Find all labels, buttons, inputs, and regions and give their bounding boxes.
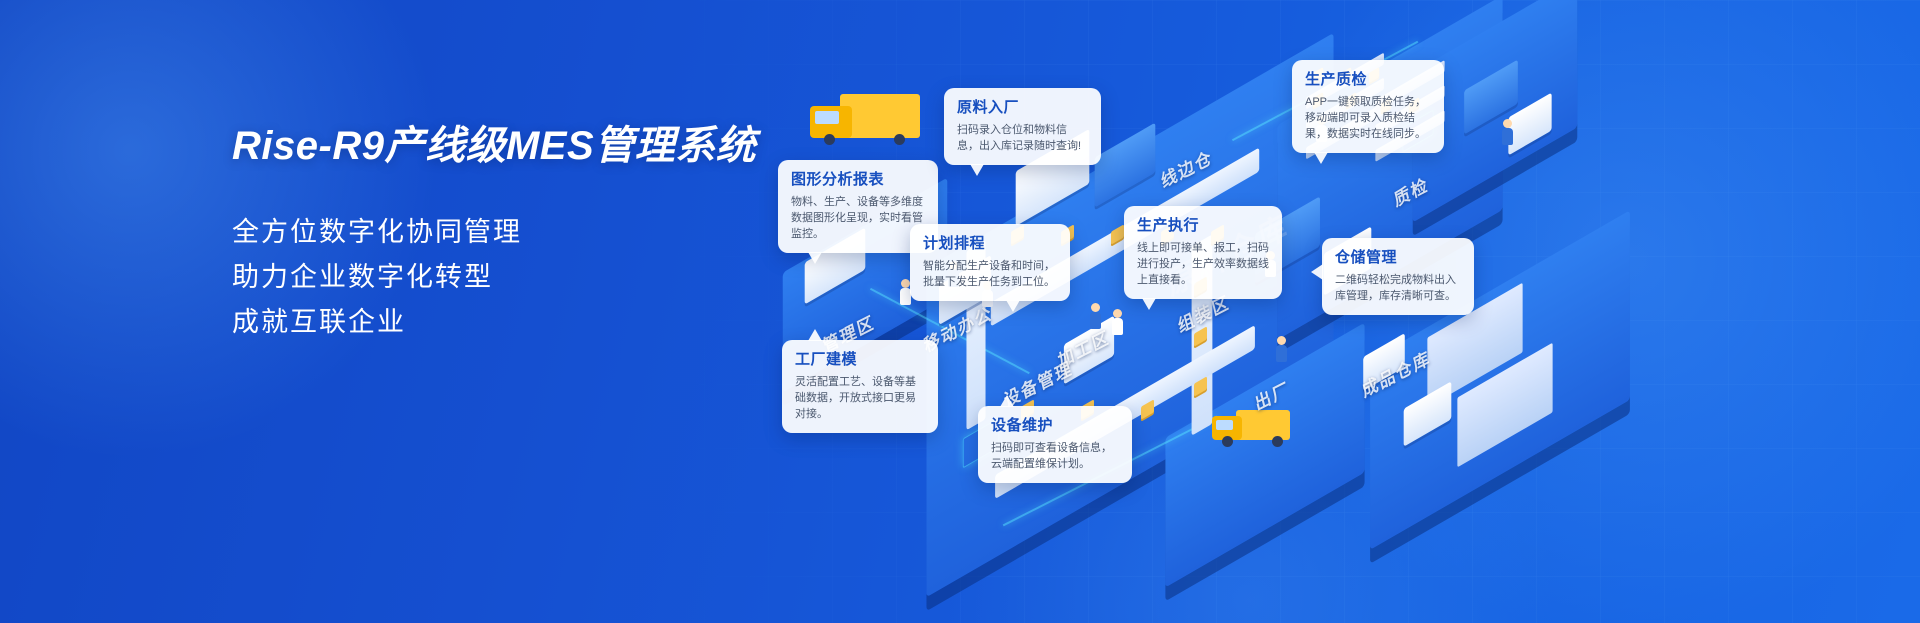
callout-title: 图形分析报表 [791, 170, 925, 190]
callout-pointer [1311, 264, 1323, 280]
truck-wheel [1222, 436, 1233, 447]
worker [1112, 318, 1123, 335]
callout-description: 扫码即可查看设备信息，云端配置维保计划。 [991, 440, 1119, 472]
truck-body [1236, 410, 1290, 440]
callout-pointer [1006, 300, 1020, 312]
callout-description: 二维码轻松完成物料出入库管理，库存清晰可查。 [1335, 272, 1461, 304]
callout-card-equipment-maintenance[interactable]: 设备维护 扫码即可查看设备信息，云端配置维保计划。 [978, 406, 1132, 483]
callout-title: 生产执行 [1137, 216, 1269, 236]
callout-card-production-quality-inspection[interactable]: 生产质检 APP一键领取质检任务，移动端即可录入质检结果，数据实时在线同步。 [1292, 60, 1444, 153]
callout-pointer [1142, 298, 1156, 310]
page-title-latin: Rise-R9 [232, 124, 384, 168]
callout-title: 仓储管理 [1335, 248, 1461, 268]
callout-description: 智能分配生产设备和时间，批量下发生产任务到工位。 [923, 258, 1057, 290]
callout-title: 计划排程 [923, 234, 1057, 254]
truck-body [840, 94, 920, 138]
callout-card-raw-material-inbound[interactable]: 原料入厂 扫码录入仓位和物料信息，出入库记录随时查询! [944, 88, 1101, 165]
callout-description: 扫码录入仓位和物料信息，出入库记录随时查询! [957, 122, 1088, 154]
truck-window [815, 111, 839, 124]
callout-card-warehouse-management[interactable]: 仓储管理 二维码轻松完成物料出入库管理，库存清晰可查。 [1322, 238, 1474, 315]
callout-pointer [1314, 152, 1328, 164]
callout-title: 工厂建模 [795, 350, 925, 370]
outbound-truck [1212, 408, 1298, 460]
callout-pointer [808, 252, 822, 264]
callout-card-plan-scheduling[interactable]: 计划排程 智能分配生产设备和时间，批量下发生产任务到工位。 [910, 224, 1070, 301]
callout-description: 灵活配置工艺、设备等基础数据，开放式接口更易对接。 [795, 374, 925, 422]
worker-head [1503, 119, 1512, 128]
worker [1502, 128, 1513, 145]
page-title-cn: 产线级MES管理系统 [384, 124, 756, 168]
truck-wheel [1272, 436, 1283, 447]
hero-copy: Rise-R9产线级MES管理系统 全方位数字化协同管理 助力企业数字化转型 成… [232, 122, 756, 345]
worker-head [1091, 303, 1100, 312]
callout-description: APP一键领取质检任务，移动端即可录入质检结果，数据实时在线同步。 [1305, 94, 1431, 142]
mes-marketing-banner: Rise-R9产线级MES管理系统 全方位数字化协同管理 助力企业数字化转型 成… [0, 0, 1920, 623]
callout-pointer [1000, 395, 1014, 407]
callout-title: 原料入厂 [957, 98, 1088, 118]
callout-title: 设备维护 [991, 416, 1119, 436]
hero-subtitle-line-1: 全方位数字化协同管理 [232, 210, 756, 255]
worker [1276, 345, 1287, 362]
page-title: Rise-R9产线级MES管理系统 [232, 122, 756, 170]
hero-subtitle: 全方位数字化协同管理 助力企业数字化转型 成就互联企业 [232, 210, 756, 345]
worker-head [901, 279, 910, 288]
truck-wheel [824, 134, 835, 145]
hero-subtitle-line-2: 助力企业数字化转型 [232, 255, 756, 300]
callout-card-production-execution[interactable]: 生产执行 线上即可接单、报工，扫码进行投产，生产效率数据线上直接看。 [1124, 206, 1282, 299]
callout-pointer [808, 329, 822, 341]
worker-head [1277, 336, 1286, 345]
worker-head [1113, 309, 1122, 318]
inbound-truck [810, 92, 930, 162]
truck-window [1216, 420, 1233, 430]
callout-pointer [970, 164, 984, 176]
hero-subtitle-line-3: 成就互联企业 [232, 300, 756, 345]
truck-wheel [894, 134, 905, 145]
callout-description: 线上即可接单、报工，扫码进行投产，生产效率数据线上直接看。 [1137, 240, 1269, 288]
callout-card-factory-modeling[interactable]: 工厂建模 灵活配置工艺、设备等基础数据，开放式接口更易对接。 [782, 340, 938, 433]
callout-title: 生产质检 [1305, 70, 1431, 90]
callout-description: 物料、生产、设备等多维度数据图形化呈现，实时看管监控。 [791, 194, 925, 242]
